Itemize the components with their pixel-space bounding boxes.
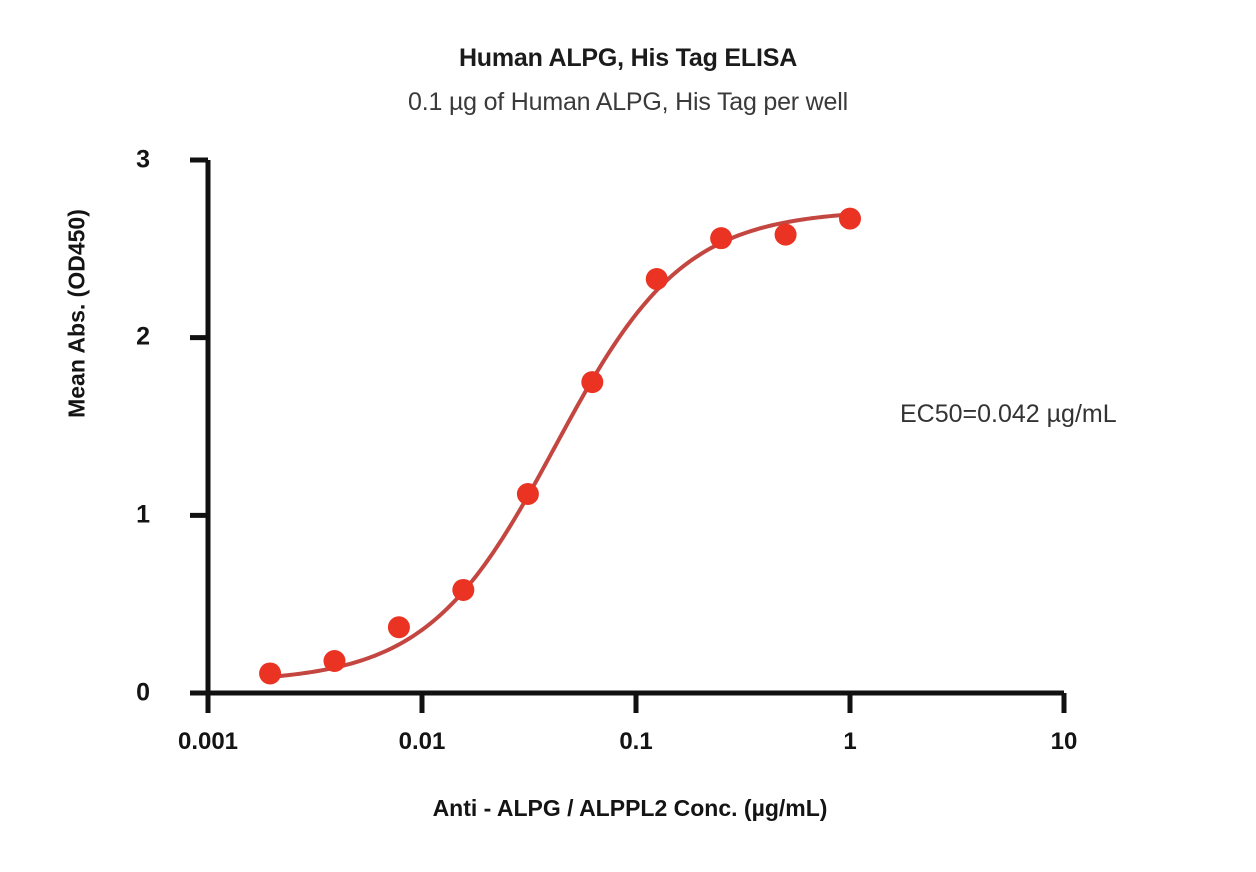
plot-area bbox=[0, 0, 1256, 872]
dose-response-curve bbox=[270, 214, 850, 676]
data-point bbox=[839, 208, 861, 230]
data-point bbox=[710, 227, 732, 249]
data-point bbox=[517, 483, 539, 505]
data-point bbox=[775, 224, 797, 246]
data-point-markers bbox=[259, 208, 861, 685]
axes bbox=[208, 160, 1064, 693]
y-axis-ticks bbox=[190, 160, 208, 693]
data-point bbox=[323, 650, 345, 672]
data-point bbox=[452, 579, 474, 601]
data-point bbox=[259, 662, 281, 684]
data-point bbox=[646, 268, 668, 290]
data-point bbox=[388, 616, 410, 638]
elisa-chart-figure: Human ALPG, His Tag ELISA 0.1 µg of Huma… bbox=[0, 0, 1256, 872]
data-point bbox=[581, 371, 603, 393]
x-axis-ticks bbox=[208, 693, 1064, 713]
